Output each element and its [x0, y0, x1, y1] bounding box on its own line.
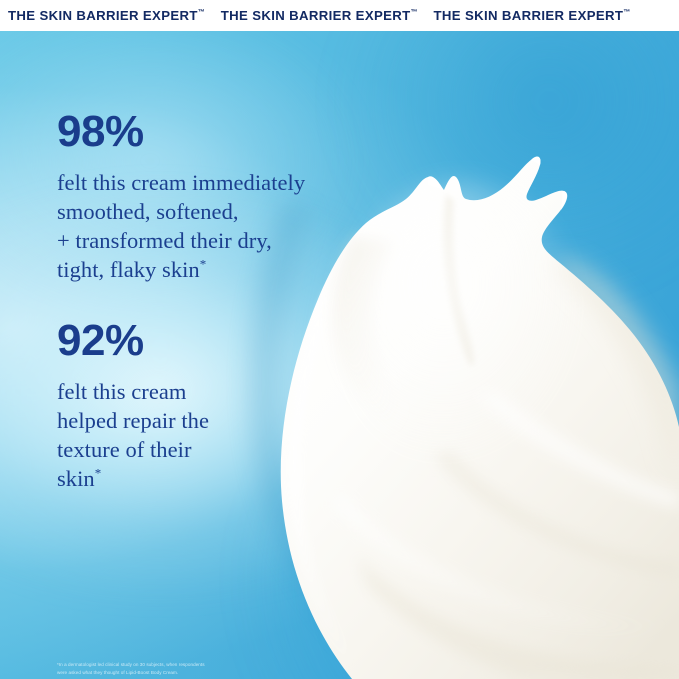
trademark-icon-3: ™ [623, 9, 630, 16]
claim-92-line-1: felt this cream [57, 377, 209, 406]
claim-92-asterisk: * [95, 466, 102, 481]
footnote-line-2: were asked what they thought of Lipid-Bo… [57, 669, 287, 677]
claim-block-98: 98% felt this cream immediately smoothed… [57, 110, 305, 285]
header-tagline-2: THE SKIN BARRIER EXPERT™ [221, 9, 418, 22]
header-tagline-3: THE SKIN BARRIER EXPERT™ [434, 9, 631, 22]
background-gradient: 98% felt this cream immediately smoothed… [0, 31, 679, 679]
footnote-disclaimer: *In a dermatologist led clinical study o… [57, 661, 287, 678]
claim-92-line-3: texture of their [57, 435, 209, 464]
header-tagline-band: THE SKIN BARRIER EXPERT™ THE SKIN BARRIE… [0, 0, 679, 31]
claim-98-line-4-text: tight, flaky skin [57, 257, 200, 282]
claim-92-line-4-text: skin [57, 466, 95, 491]
claim-98-line-4: tight, flaky skin* [57, 255, 305, 284]
header-tagline-2-text: THE SKIN BARRIER EXPERT [221, 8, 411, 23]
trademark-icon-1: ™ [198, 9, 205, 16]
background-shade-bottom-right [239, 319, 679, 679]
header-tagline-3-text: THE SKIN BARRIER EXPERT [434, 8, 624, 23]
stat-98: 98% [57, 110, 305, 154]
stat-92: 92% [57, 319, 209, 363]
claim-92-line-4: skin* [57, 464, 209, 493]
claim-text-98: felt this cream immediately smoothed, so… [57, 168, 305, 285]
graphic-canvas: THE SKIN BARRIER EXPERT™ THE SKIN BARRIE… [0, 0, 679, 679]
header-tagline-1: THE SKIN BARRIER EXPERT™ [8, 9, 205, 22]
claim-98-line-3: + transformed their dry, [57, 226, 305, 255]
claim-98-line-2: smoothed, softened, [57, 197, 305, 226]
header-tagline-1-text: THE SKIN BARRIER EXPERT [8, 8, 198, 23]
trademark-icon-2: ™ [411, 9, 418, 16]
claim-92-line-2: helped repair the [57, 406, 209, 435]
claim-text-92: felt this cream helped repair the textur… [57, 377, 209, 494]
footnote-line-1: *In a dermatologist led clinical study o… [57, 661, 287, 669]
background-shade-top-right [339, 31, 679, 291]
claim-98-line-1: felt this cream immediately [57, 168, 305, 197]
claim-block-92: 92% felt this cream helped repair the te… [57, 319, 209, 494]
claim-98-asterisk: * [200, 257, 207, 272]
